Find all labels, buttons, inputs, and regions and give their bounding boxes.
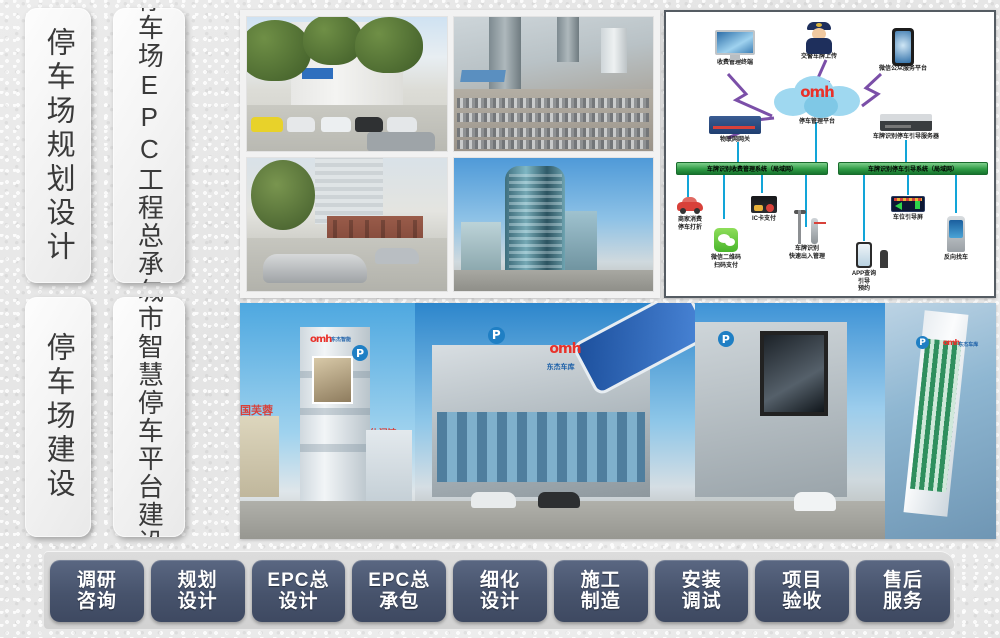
person-icon [880,250,888,268]
photo-montage-panel [240,10,660,298]
car-shape [355,117,383,132]
building-shape [240,416,279,496]
diagram-node-iot-gateway: 物联网网关 [700,116,770,145]
roof-shape [461,70,507,82]
step-line-1: 售后 [883,570,923,591]
renderings-panel: omh 东杰智能 P 国芙蓉 休闲馆 omh 东杰车库 P P [240,303,996,539]
car-shape [287,117,315,132]
building-shape [505,166,565,270]
building-shape [315,157,383,225]
wechat-icon [714,228,738,252]
car-row-shape [457,113,649,122]
building-shape [461,222,501,273]
car-shape [538,492,580,509]
step-line-1: 调研 [77,570,117,591]
building-shape [557,16,579,62]
street-shape [454,270,654,291]
photo-brick-building-lot [246,157,448,293]
server-icon [880,114,932,131]
photo-street-parking-lot [246,16,448,152]
diagram-child-wechat-qr-payment: 微信二维码扫码支付 [704,228,748,270]
step-line-1: EPC总 [267,570,329,591]
render-aerial-tower: omh 东杰车库 P [885,303,996,539]
system-bar-label: 车牌识别停车引导系统（局域网） [868,164,958,173]
diagram-node-wechat-public-service: 微信公众服务平台 [866,28,940,74]
building-shape [366,430,412,506]
step-acceptance[interactable]: 项目 验收 [755,560,849,622]
step-line-2: 调试 [682,591,722,612]
omh-logo: omh [790,83,844,101]
photo-aerial-parking-lot [453,16,655,152]
step-line-1: 安装 [682,570,722,591]
ground-shape [240,501,415,539]
car-row-shape [457,128,649,137]
diagram-child-label: APP查询引导预约 [842,271,886,294]
police-officer-icon [804,22,834,54]
parking-sign-icon: P [718,331,734,347]
led-screen-shape [760,331,828,416]
sidebar-card-smart-city-parking-platform[interactable]: 城市智慧停车平台建设 [113,297,185,537]
step-line-2: 制造 [581,591,621,612]
slide-root: 停车场规划设计 停车场EPC工程总承包 停车场建设 城市智慧停车平台建设 [0,0,1000,638]
app-phone-group [849,242,879,268]
car-row-shape [457,140,649,149]
step-survey[interactable]: 调研 咨询 [50,560,144,622]
diagram-child-label: 车位引导屏 [886,215,930,223]
diagram-child-ic-card-payment: IC卡支付 [744,196,784,224]
step-line-2: 咨询 [77,591,117,612]
sidebar-card-parking-construction[interactable]: 停车场建设 [25,297,91,537]
omh-logo: omh [310,334,331,345]
step-line-2: 承包 [379,591,419,612]
sidebar-card-label: 停车场规划设计 [41,27,75,265]
diagram-node-label: 微信公众服务平台 [866,66,940,74]
diagram-child-label: IC卡支付 [744,216,784,224]
diagram-child-label: 车牌识别快速出入管理 [784,246,830,261]
diagram-node-label: 交警车牌上传 [790,54,848,62]
diagram-node-toll-terminal: 收费管理终端 [704,30,766,68]
car-shape [387,117,417,132]
cloud-icon: omh [774,74,860,118]
brand-cn-label: 东杰车库 [958,341,978,348]
ic-card-icon [751,196,777,213]
step-line-1: 施工 [581,570,621,591]
building-shape [565,211,597,272]
ground-shape [695,501,885,539]
car-row-shape [457,98,649,107]
building-shape [601,28,627,73]
step-line-2: 设计 [278,591,318,612]
step-manufacturing[interactable]: 施工 制造 [554,560,648,622]
diagram-child-reverse-car-finding: 反向找车 [934,216,978,263]
render-tower-p: omh 东杰智能 P 国芙蓉 休闲馆 [240,303,415,539]
app-phone-icon [856,242,872,268]
step-epc-contract[interactable]: EPC总 承包 [352,560,446,622]
step-line-1: EPC总 [368,570,430,591]
diagram-system-toll-system-lan: 车牌识别收费管理系统（局域网） [676,162,828,175]
step-line-2: 验收 [782,591,822,612]
glass-facade-shape [437,412,644,483]
diagram-node-cloud-platform: omh 停车管理平台 [772,74,862,127]
tree-shape [251,160,315,229]
step-line-2: 设计 [178,591,218,612]
diagram-system-guide-system-lan: 车牌识别停车引导系统（局域网） [838,162,988,175]
barrier-gate-icon [794,210,820,244]
process-steps: 调研 咨询 规划 设计 EPC总 设计 EPC总 承包 细化 设计 施工 制造 … [50,560,950,622]
car-shape [375,248,419,264]
diagram-node-plate-guide-server: 车牌识别停车引导服务器 [864,114,948,142]
car-shape [471,492,516,509]
step-line-2: 设计 [480,591,520,612]
monitor-icon [715,30,755,60]
diagram-cloud-label: 停车管理平台 [772,119,862,127]
omh-logo: omh [943,338,960,347]
render-garage-facade: omh 东杰车库 P [415,303,695,539]
sidebar-card-parking-epc-contracting[interactable]: 停车场EPC工程总承包 [113,8,185,283]
car-shape [367,132,435,151]
diagram-child-label: 微信二维码扫码支付 [704,255,748,270]
step-detail-design[interactable]: 细化 设计 [453,560,547,622]
car-shape [794,492,836,511]
smartphone-icon [892,28,914,66]
sidebar-card-label: 停车场建设 [41,332,75,502]
red-car-icon [677,198,703,214]
render-led-wall: P [695,303,885,539]
tree-shape [246,20,311,81]
step-after-sales[interactable]: 售后 服务 [856,560,950,622]
glass-facade-shape [910,339,961,492]
step-epc-design[interactable]: EPC总 设计 [252,560,346,622]
step-install-debug[interactable]: 安装 调试 [655,560,749,622]
diagram-child-merchant-discount: 商家消费停车打折 [668,198,712,232]
step-line-1: 项目 [782,570,822,591]
step-line-2: 服务 [883,591,923,612]
step-planning[interactable]: 规划 设计 [151,560,245,622]
billboard-shape [312,356,353,404]
sidebar-card-label: 城市智慧停车平台建设 [134,297,165,537]
network-diagram-panel: 收费管理终端 交警车牌上传 微信公众服务平台 物联网网关 车牌识别停车引导服务器… [664,10,996,298]
step-line-1: 细化 [480,570,520,591]
led-guide-screen-icon [891,196,925,212]
system-bar-label: 车牌识别收费管理系统（局域网） [707,164,797,173]
tree-shape [355,17,423,73]
diagram-node-label: 收费管理终端 [704,60,766,68]
omh-logo: omh [549,341,580,357]
diagram-child-label: 反向找车 [934,255,978,263]
car-shape [321,117,351,132]
diagram-child-plate-fast-access: 车牌识别快速出入管理 [784,210,830,261]
gateway-router-icon [709,116,761,134]
kiosk-icon [947,216,965,252]
step-line-1: 规划 [178,570,218,591]
diagram-child-app-query-booking: APP查询引导预约 [842,242,886,294]
diagram-child-space-guide-screen: 车位引导屏 [886,196,930,223]
parking-sign-icon: P [488,327,505,344]
brand-cn-label: 东杰智能 [331,336,351,343]
car-shape [263,254,367,283]
diagram-node-label: 物联网网关 [700,137,770,145]
photo-glass-tower-street [453,157,655,293]
diagram-node-label: 车牌识别停车引导服务器 [864,134,948,142]
sidebar-card-label: 停车场EPC工程总承包 [134,8,165,283]
tree-shape [303,16,363,65]
diagram-node-traffic-police-upload: 交警车牌上传 [790,22,848,62]
brand-cn-label: 东杰车库 [547,362,575,372]
sidebar-card-parking-planning-design[interactable]: 停车场规划设计 [25,8,91,283]
car-shape [251,117,283,132]
